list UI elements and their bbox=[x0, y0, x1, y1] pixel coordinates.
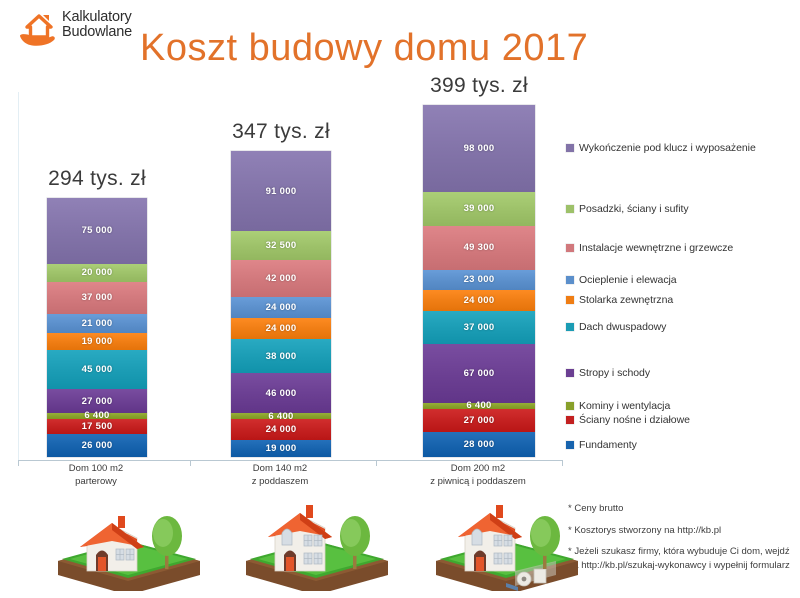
bar-segment[interactable]: 46 000 bbox=[231, 373, 331, 414]
legend-label: Dach dwuspadowy bbox=[579, 321, 666, 333]
legend-swatch-icon bbox=[566, 296, 574, 304]
bar-segment-value: 21 000 bbox=[82, 318, 113, 329]
legend-item[interactable]: Stolarka zewnętrzna bbox=[566, 294, 673, 306]
axis-tick bbox=[18, 460, 19, 466]
footnote: * Jeżeli szukasz firmy, która wybuduje C… bbox=[568, 545, 798, 572]
bar-segment[interactable]: 75 000 bbox=[47, 198, 147, 264]
bar-segment-value: 67 000 bbox=[464, 368, 495, 379]
legend-swatch-icon bbox=[566, 416, 574, 424]
axis-tick bbox=[562, 460, 563, 466]
column-total-label: 294 tys. zł bbox=[48, 167, 146, 191]
bar-segment[interactable]: 67 000 bbox=[423, 344, 535, 403]
bar-segment-value: 27 000 bbox=[82, 396, 113, 407]
bar-segment[interactable]: 39 000 bbox=[423, 192, 535, 226]
column-total-label: 347 tys. zł bbox=[232, 120, 330, 144]
footnote: * Ceny brutto bbox=[568, 502, 798, 516]
bar-segment[interactable]: 19 000 bbox=[231, 440, 331, 457]
legend-item[interactable]: Dach dwuspadowy bbox=[566, 321, 666, 333]
category-axis-line bbox=[18, 460, 563, 461]
legend-label: Ściany nośne i działowe bbox=[579, 414, 690, 426]
column-total-label: 399 tys. zł bbox=[430, 74, 528, 98]
house-with-attic-icon bbox=[228, 483, 403, 596]
legend-swatch-icon bbox=[566, 323, 574, 331]
category-axis-label-line: Dom 100 m2 bbox=[46, 463, 146, 476]
legend-swatch-icon bbox=[566, 244, 574, 252]
legend-item[interactable]: Fundamenty bbox=[566, 439, 637, 451]
bar-segment-value: 75 000 bbox=[82, 225, 113, 236]
bar-segment[interactable]: 20 000 bbox=[47, 264, 147, 282]
legend-swatch-icon bbox=[566, 276, 574, 284]
bar-segment-value: 24 000 bbox=[266, 323, 297, 334]
category-axis-label-line: Dom 200 m2 bbox=[422, 463, 534, 476]
brand-logo-text: Kalkulatory Budowlane bbox=[62, 10, 132, 40]
legend-label: Stropy i schody bbox=[579, 367, 650, 379]
footnote: * Kosztorys stworzony na http://kb.pl bbox=[568, 524, 798, 538]
bar-segment[interactable]: 21 000 bbox=[47, 314, 147, 333]
bar-segment-value: 37 000 bbox=[82, 292, 113, 303]
bar-segment[interactable]: 45 000 bbox=[47, 350, 147, 390]
bar-segment[interactable]: 49 300 bbox=[423, 226, 535, 269]
bar-segment[interactable]: 24 000 bbox=[423, 290, 535, 311]
bar-segment-value: 37 000 bbox=[464, 322, 495, 333]
bar-segment[interactable]: 42 000 bbox=[231, 260, 331, 297]
bar-segment-value: 24 000 bbox=[266, 424, 297, 435]
bar-segment-value: 17 500 bbox=[82, 421, 113, 432]
bar-segment-value: 42 000 bbox=[266, 273, 297, 284]
bar-segment-value: 45 000 bbox=[82, 364, 113, 375]
legend-swatch-icon bbox=[566, 441, 574, 449]
legend-swatch-icon bbox=[566, 205, 574, 213]
bar-segment-value: 39 000 bbox=[464, 203, 495, 214]
bar-segment-value: 38 000 bbox=[266, 351, 297, 362]
bar-segment[interactable]: 26 000 bbox=[47, 434, 147, 457]
bar-segment[interactable]: 17 500 bbox=[47, 419, 147, 434]
bar-segment-value: 19 000 bbox=[82, 336, 113, 347]
stacked-bar: 91 00032 50042 00024 00024 00038 00046 0… bbox=[231, 151, 331, 457]
legend-label: Kominy i wentylacja bbox=[579, 400, 670, 412]
bar-segment-value: 32 500 bbox=[266, 240, 297, 251]
footnotes: * Ceny brutto* Kosztorys stworzony na ht… bbox=[568, 502, 798, 572]
house-single-storey-icon bbox=[40, 483, 215, 596]
bar-segment[interactable]: 37 000 bbox=[423, 311, 535, 344]
axis-tick bbox=[376, 460, 377, 466]
bar-segment-value: 24 000 bbox=[266, 302, 297, 313]
house-with-basement-and-attic-icon bbox=[418, 483, 593, 596]
bar-segment-value: 19 000 bbox=[266, 443, 297, 454]
logo-line-2: Budowlane bbox=[62, 25, 132, 40]
bar-segment-value: 24 000 bbox=[464, 295, 495, 306]
chart-column[interactable]: 294 tys. zł75 00020 00037 00021 00019 00… bbox=[47, 198, 147, 457]
bar-segment[interactable]: 91 000 bbox=[231, 151, 331, 231]
bar-segment-value: 46 000 bbox=[266, 388, 297, 399]
stacked-bar: 98 00039 00049 30023 00024 00037 00067 0… bbox=[423, 105, 535, 457]
brand-logo[interactable]: Kalkulatory Budowlane bbox=[18, 8, 158, 54]
bar-segment-value: 91 000 bbox=[266, 186, 297, 197]
bar-segment-value: 98 000 bbox=[464, 143, 495, 154]
legend-item[interactable]: Ściany nośne i działowe bbox=[566, 414, 690, 426]
bar-segment[interactable]: 38 000 bbox=[231, 339, 331, 373]
legend-swatch-icon bbox=[566, 369, 574, 377]
chart-legend: Wykończenie pod klucz i wyposażeniePosad… bbox=[566, 92, 800, 460]
bar-segment-value: 28 000 bbox=[464, 439, 495, 450]
chart-column[interactable]: 399 tys. zł98 00039 00049 30023 00024 00… bbox=[423, 105, 535, 457]
bar-segment-value: 27 000 bbox=[464, 415, 495, 426]
legend-label: Posadzki, ściany i sufity bbox=[579, 203, 689, 215]
legend-swatch-icon bbox=[566, 402, 574, 410]
axis-tick bbox=[190, 460, 191, 466]
legend-item[interactable]: Kominy i wentylacja bbox=[566, 400, 670, 412]
bar-segment[interactable]: 98 000 bbox=[423, 105, 535, 191]
logo-line-1: Kalkulatory bbox=[62, 10, 132, 25]
bar-segment[interactable]: 37 000 bbox=[47, 282, 147, 315]
legend-label: Wykończenie pod klucz i wyposażenie bbox=[579, 142, 756, 154]
legend-label: Instalacje wewnętrzne i grzewcze bbox=[579, 242, 733, 254]
legend-item[interactable]: Ocieplenie i elewacja bbox=[566, 274, 677, 286]
house-in-hand-icon bbox=[18, 10, 60, 50]
bar-segment[interactable]: 23 000 bbox=[423, 270, 535, 290]
bar-segment[interactable]: 27 000 bbox=[423, 409, 535, 433]
bar-segment[interactable]: 19 000 bbox=[47, 333, 147, 350]
legend-item[interactable]: Instalacje wewnętrzne i grzewcze bbox=[566, 242, 733, 254]
bar-segment[interactable]: 24 000 bbox=[231, 419, 331, 440]
page-title: Koszt budowy domu 2017 bbox=[140, 27, 660, 70]
category-axis-label-line: Dom 140 m2 bbox=[230, 463, 330, 476]
legend-label: Stolarka zewnętrzna bbox=[579, 294, 673, 306]
chart-column[interactable]: 347 tys. zł91 00032 50042 00024 00024 00… bbox=[231, 151, 331, 457]
legend-label: Ocieplenie i elewacja bbox=[579, 274, 677, 286]
header: Kalkulatory Budowlane Koszt budowy domu … bbox=[0, 0, 800, 92]
bar-segment-value: 26 000 bbox=[82, 440, 113, 451]
bar-segment-value: 20 000 bbox=[82, 267, 113, 278]
bar-segment[interactable]: 27 000 bbox=[47, 389, 147, 413]
legend-item[interactable]: Wykończenie pod klucz i wyposażenie bbox=[566, 142, 756, 154]
bar-segment[interactable]: 32 500 bbox=[231, 231, 331, 260]
bar-segment-value: 49 300 bbox=[464, 242, 495, 253]
chart-plot-area: 294 tys. zł75 00020 00037 00021 00019 00… bbox=[18, 92, 564, 460]
bar-segment-value: 23 000 bbox=[464, 274, 495, 285]
legend-item[interactable]: Stropy i schody bbox=[566, 367, 650, 379]
legend-swatch-icon bbox=[566, 144, 574, 152]
legend-item[interactable]: Posadzki, ściany i sufity bbox=[566, 203, 689, 215]
bar-segment[interactable]: 28 000 bbox=[423, 432, 535, 457]
bar-segment[interactable]: 24 000 bbox=[231, 318, 331, 339]
stacked-bar: 75 00020 00037 00021 00019 00045 00027 0… bbox=[47, 198, 147, 457]
legend-label: Fundamenty bbox=[579, 439, 637, 451]
bar-segment[interactable]: 24 000 bbox=[231, 297, 331, 318]
